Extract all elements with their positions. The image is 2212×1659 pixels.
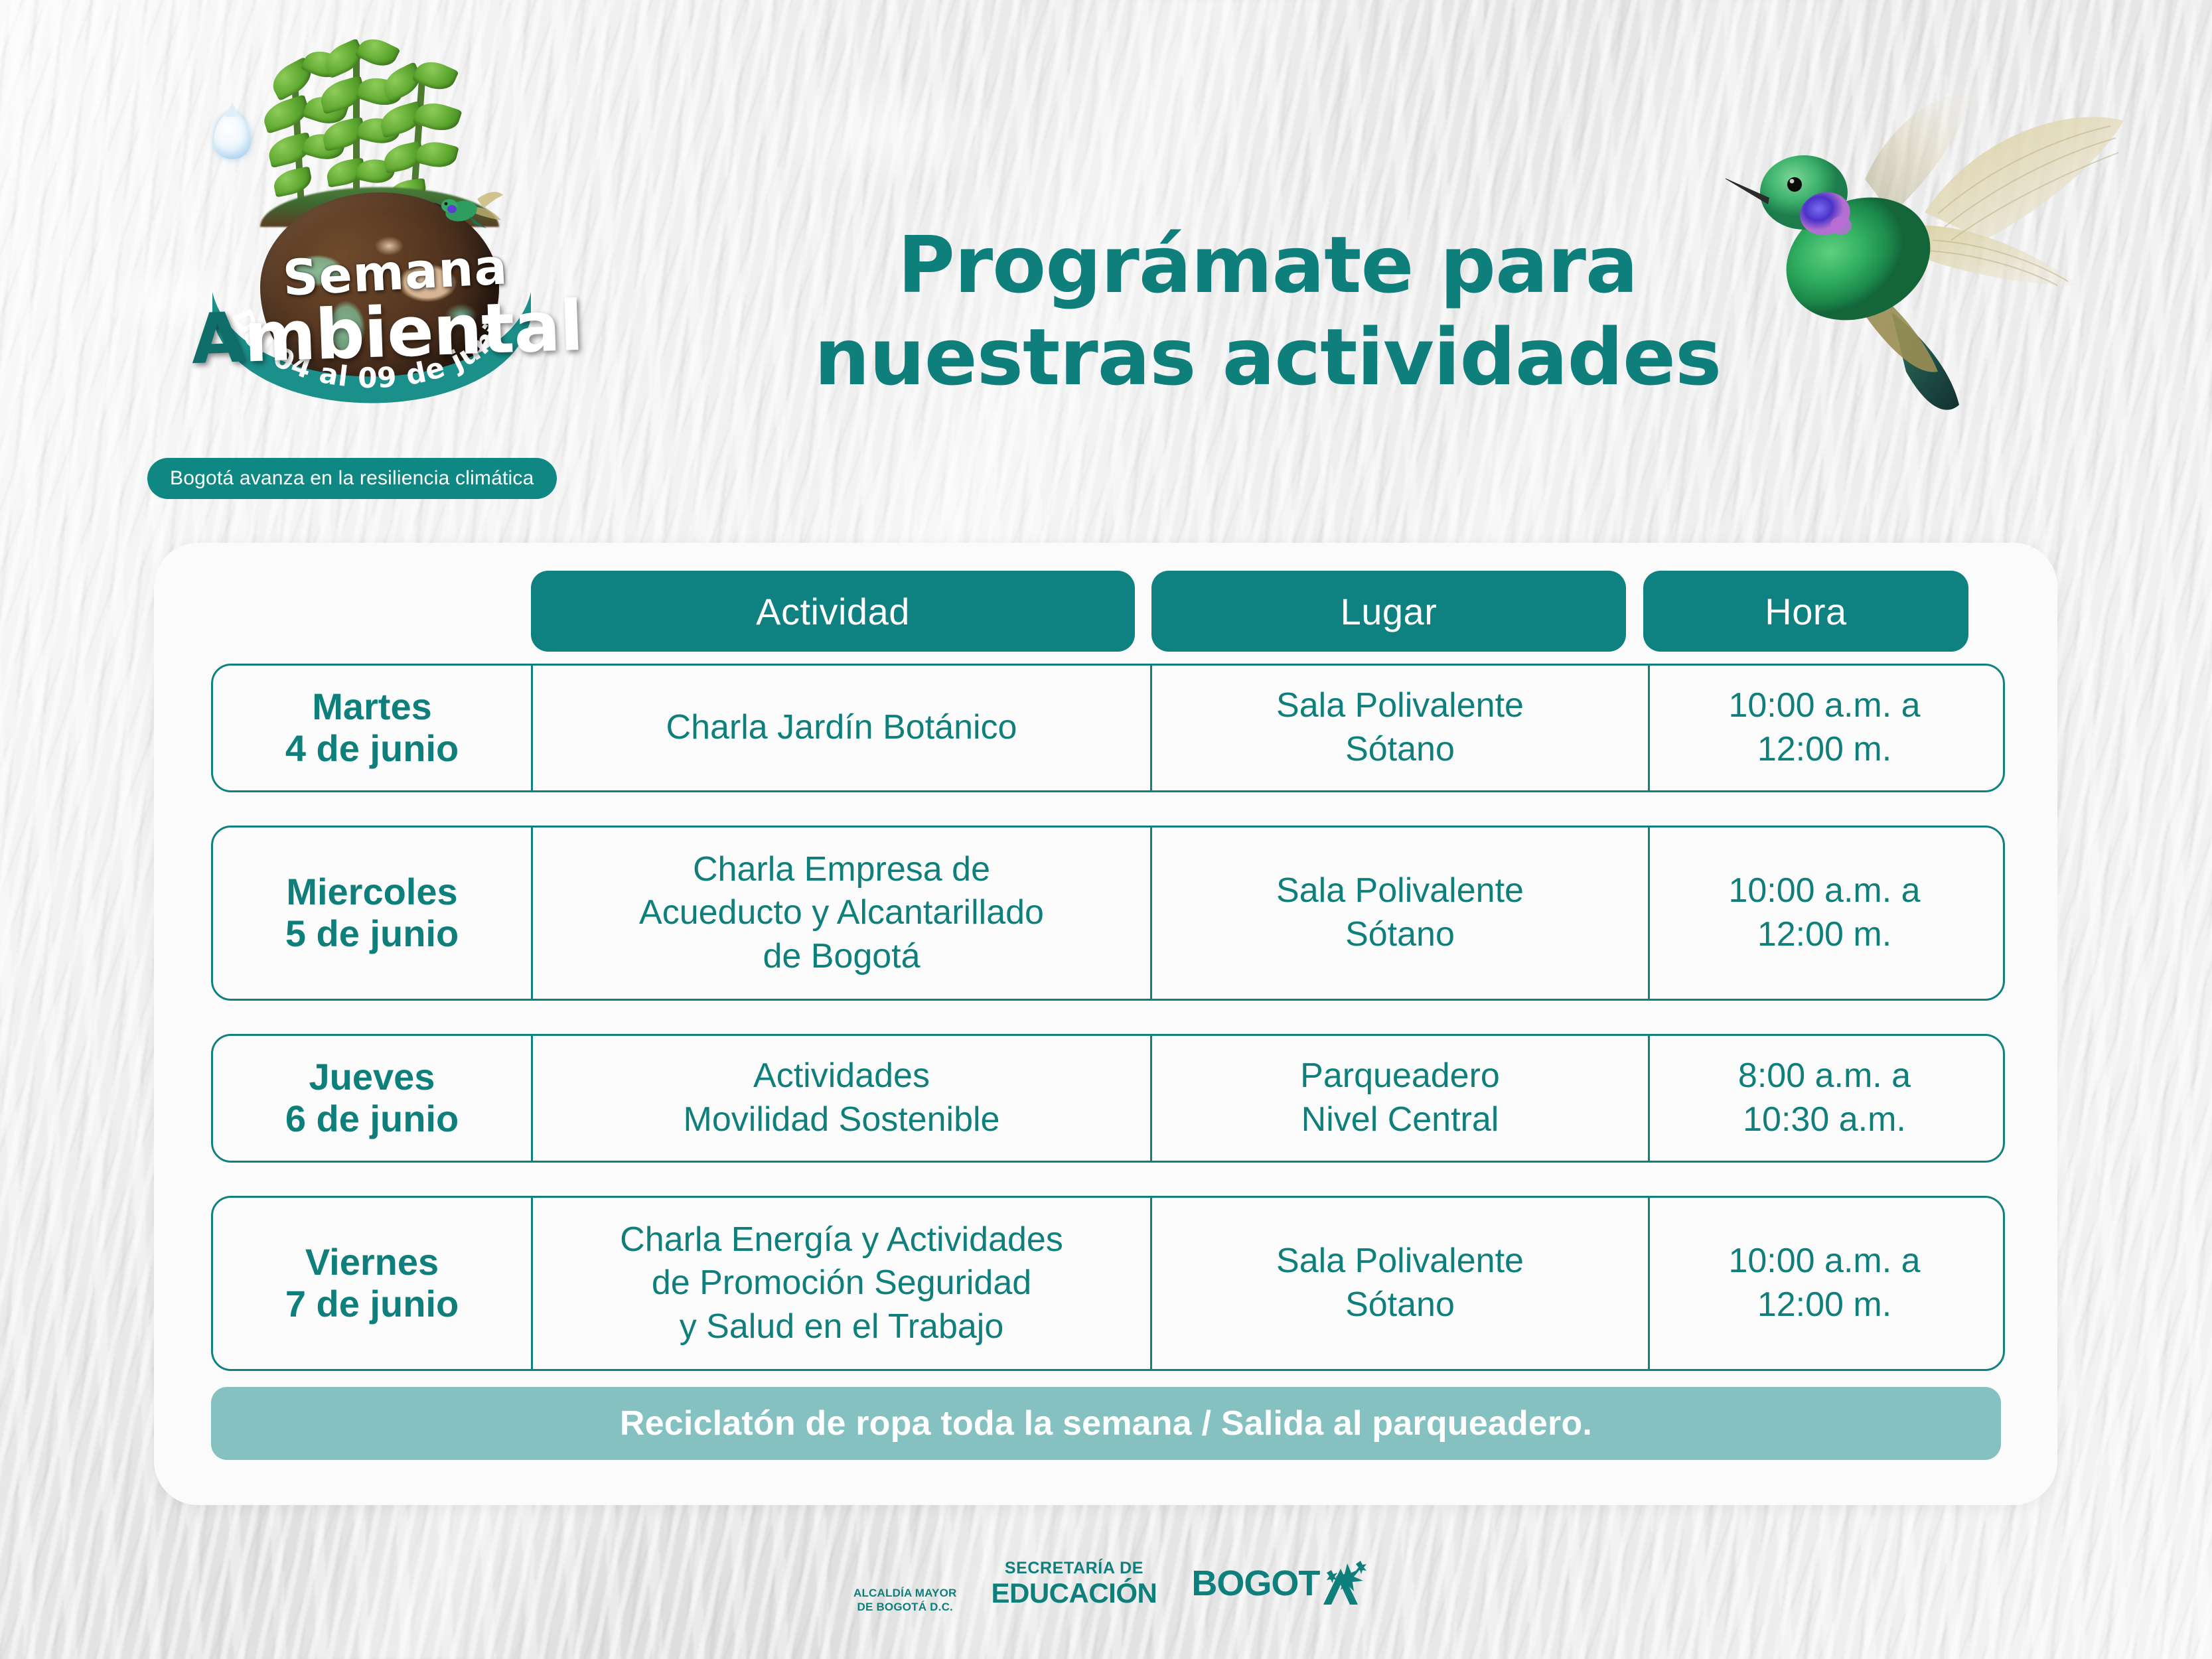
hummingbird-body [1726, 155, 1959, 410]
column-header-hora-label: Hora [1765, 590, 1846, 633]
column-header-lugar-label: Lugar [1341, 590, 1438, 633]
column-header-actividad-label: Actividad [756, 590, 910, 633]
row-hora-line2: 10:30 a.m. [1743, 1100, 1906, 1139]
semana-ambiental-logo: Semana Del 04 al 09 de junio Ambiental [199, 40, 544, 465]
row-lugar-cell: Sala PolivalenteSótano [1152, 1198, 1650, 1369]
row-day-cell: Martes4 de junio [213, 666, 533, 790]
hummingbird-icon [435, 187, 504, 240]
secretaria-line1: SECRETARÍA DE [992, 1560, 1157, 1577]
alcaldia-line2: DE BOGOTÁ D.C. [853, 1601, 957, 1615]
row-hora-cell: 10:00 a.m. a12:00 m. [1650, 666, 1999, 790]
row-lugar-line1: Sala Polivalente [1276, 1242, 1524, 1280]
secretaria-line2: EDUCACIÓN [992, 1579, 1157, 1607]
row-day-name: Miercoles [286, 871, 457, 912]
tagline-text: Bogotá avanza en la resiliencia climátic… [170, 467, 534, 490]
row-hora-line1: 8:00 a.m. a [1738, 1056, 1911, 1095]
row-day-name: Jueves [309, 1056, 435, 1098]
row-day-date: 6 de junio [285, 1098, 459, 1139]
column-header-lugar: Lugar [1151, 571, 1626, 652]
row-day-date: 7 de junio [285, 1283, 459, 1325]
page-title: Prográmate para nuestras actividades [783, 219, 1752, 403]
row-hora-line1: 10:00 a.m. a [1728, 1242, 1920, 1280]
row-actividad-cell: Charla Empresa de Acueducto y Alcantaril… [533, 828, 1152, 999]
row-hora-line2: 12:00 m. [1757, 730, 1891, 768]
recycling-banner: Reciclatón de ropa toda la semana / Sali… [211, 1387, 2001, 1460]
hummingbird-photo [1726, 60, 2190, 471]
row-actividad-cell: Charla Jardín Botánico [533, 666, 1152, 790]
alcaldia-label: ALCALDÍA MAYOR DE BOGOTÁ D.C. [853, 1587, 957, 1614]
row-day-name: Viernes [305, 1241, 439, 1283]
bogota-wordmark-text: BOGOT [1191, 1563, 1319, 1604]
page-title-line1: Prográmate para [783, 219, 1752, 311]
row-hora-line2: 12:00 m. [1757, 1285, 1891, 1324]
row-lugar-line1: Sala Polivalente [1276, 686, 1524, 725]
row-day-date: 5 de junio [285, 912, 459, 954]
row-day-cell: Miercoles5 de junio [213, 828, 533, 999]
row-hora-cell: 10:00 a.m. a12:00 m. [1650, 828, 1999, 999]
row-hora-cell: 10:00 a.m. a12:00 m. [1650, 1198, 1999, 1369]
row-lugar-cell: Sala PolivalenteSótano [1152, 828, 1650, 999]
row-day-cell: Viernes7 de junio [213, 1198, 533, 1369]
row-lugar-cell: Sala PolivalenteSótano [1152, 666, 1650, 790]
row-day-cell: Jueves6 de junio [213, 1036, 533, 1161]
table-row: Viernes7 de junio Charla Energía y Activ… [211, 1196, 2005, 1371]
bogota-star-icon [1317, 1559, 1368, 1607]
recycling-banner-text: Reciclatón de ropa toda la semana / Sali… [620, 1404, 1592, 1443]
logo-word-ambiental-initial: A [190, 297, 246, 380]
row-lugar-line2: Sótano [1345, 915, 1455, 954]
row-lugar-line2: Sótano [1345, 1285, 1455, 1324]
table-row: Martes4 de junio Charla Jardín Botánico … [211, 664, 2005, 792]
row-actividad-cell: Charla Energía y Actividades de Promoció… [533, 1198, 1152, 1369]
row-day-name: Martes [312, 685, 432, 727]
footer-logos: ALCALDÍA MAYOR DE BOGOTÁ D.C. SECRETARÍA… [889, 1530, 1341, 1636]
column-header-hora: Hora [1643, 571, 1968, 652]
alcaldia-line1: ALCALDÍA MAYOR [853, 1587, 957, 1601]
row-lugar-cell: ParqueaderoNivel Central [1152, 1036, 1650, 1161]
row-day-date: 4 de junio [285, 727, 459, 769]
row-hora-cell: 8:00 a.m. a10:30 a.m. [1650, 1036, 1999, 1161]
water-drop-icon [214, 113, 251, 159]
row-lugar-line2: Nivel Central [1301, 1100, 1499, 1139]
row-lugar-line2: Sótano [1345, 730, 1455, 768]
table-row: Jueves6 de junio Actividades Movilidad S… [211, 1034, 2005, 1163]
tagline-pill: Bogotá avanza en la resiliencia climátic… [147, 458, 557, 499]
column-header-actividad: Actividad [531, 571, 1135, 652]
secretaria-educacion-logo: SECRETARÍA DE EDUCACIÓN [992, 1560, 1157, 1607]
logo-word-ambiental: Ambiental [190, 285, 584, 380]
page-title-line2: nuestras actividades [783, 311, 1752, 403]
logo-word-ambiental-rest: mbiental [243, 285, 585, 378]
bogota-wordmark: BOGOT [1191, 1559, 1368, 1607]
row-lugar-line1: Parqueadero [1300, 1056, 1500, 1095]
table-row: Miercoles5 de junio Charla Empresa de Ac… [211, 826, 2005, 1001]
row-lugar-line1: Sala Polivalente [1276, 871, 1524, 910]
row-hora-line1: 10:00 a.m. a [1728, 871, 1920, 910]
row-hora-line2: 12:00 m. [1757, 915, 1891, 954]
row-actividad-cell: Actividades Movilidad Sostenible [533, 1036, 1152, 1161]
row-hora-line1: 10:00 a.m. a [1728, 686, 1920, 725]
